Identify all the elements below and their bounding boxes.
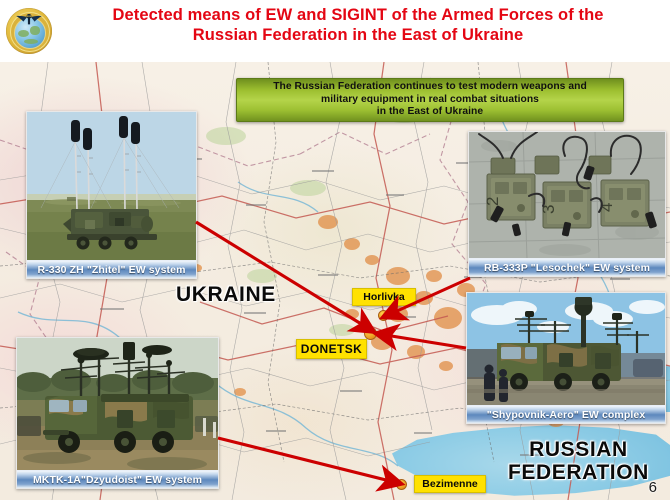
r330zh-illustration: [27, 112, 196, 261]
photo-shypovnik-aero-image: [467, 293, 665, 406]
photo-r330zh-image: [27, 112, 196, 261]
shypovnik-illustration: [467, 293, 665, 406]
map-label-ukraine: UKRAINE: [176, 283, 276, 307]
city-tag-bezimenne: Bezimenne: [414, 475, 486, 493]
photo-r330zh-caption: R-330 ZH "Zhitel" EW system: [37, 264, 185, 276]
page-title-line2: Russian Federation in the East of Ukrain…: [58, 25, 658, 45]
page-title: Detected means of EW and SIGINT of the A…: [58, 5, 658, 45]
page-title-line1: Detected means of EW and SIGINT of the A…: [58, 5, 658, 25]
city-marker-horlivka: [378, 310, 389, 321]
photo-r330zh-caption-bar: R-330 ZH "Zhitel" EW system: [27, 260, 196, 278]
map-label-russian-federation: RUSSIAN FEDERATION: [508, 438, 649, 484]
map-label-russian-federation-line1: RUSSIAN: [508, 438, 649, 461]
slide-header: Detected means of EW and SIGINT of the A…: [0, 0, 670, 62]
mktk1a-illustration: [17, 338, 218, 471]
city-marker-bezimenne: [396, 479, 407, 490]
owl-icon: [15, 12, 43, 28]
photo-mktk1a-caption: MKTK-1A"Dzyudoist" EW system: [33, 474, 202, 486]
city-tag-horlivka: Horlivka: [352, 288, 416, 306]
photo-mktk1a-caption-bar: MKTK-1A"Dzyudoist" EW system: [17, 470, 218, 488]
military-intelligence-emblem-icon: [6, 8, 52, 54]
callout-line1: The Russian Federation continues to test…: [273, 81, 587, 92]
city-tag-donetsk: DONETSK: [296, 339, 367, 359]
photo-rb333p-caption: RB-333P "Lesochek" EW system: [484, 262, 650, 274]
photo-shypovnik-aero-caption: "Shypovnik-Aero" EW complex: [487, 409, 646, 421]
callout-banner: The Russian Federation continues to test…: [236, 78, 624, 122]
photo-shypovnik-aero: "Shypovnik-Aero" EW complex: [466, 292, 666, 424]
photo-rb333p-image: 2 3: [469, 132, 665, 259]
photo-r330zh: R-330 ZH "Zhitel" EW system: [26, 111, 197, 279]
map-label-russian-federation-line2: FEDERATION: [508, 461, 649, 484]
photo-shypovnik-aero-caption-bar: "Shypovnik-Aero" EW complex: [467, 405, 665, 423]
photo-mktk1a-image: [17, 338, 218, 471]
photo-rb333p-caption-bar: RB-333P "Lesochek" EW system: [469, 258, 665, 276]
svg-text:2: 2: [483, 197, 502, 206]
rb333p-illustration: 2 3: [469, 132, 665, 259]
page-number: 6: [649, 479, 657, 496]
svg-text:3: 3: [539, 205, 558, 214]
callout-line2: military equipment in real combat situat…: [321, 94, 539, 105]
presentation-slide: Detected means of EW and SIGINT of the A…: [0, 0, 670, 500]
photo-rb333p: 2 3: [468, 131, 666, 277]
callout-line3: in the East of Ukraine: [377, 106, 483, 117]
photo-mktk1a: MKTK-1A"Dzyudoist" EW system: [16, 337, 219, 489]
